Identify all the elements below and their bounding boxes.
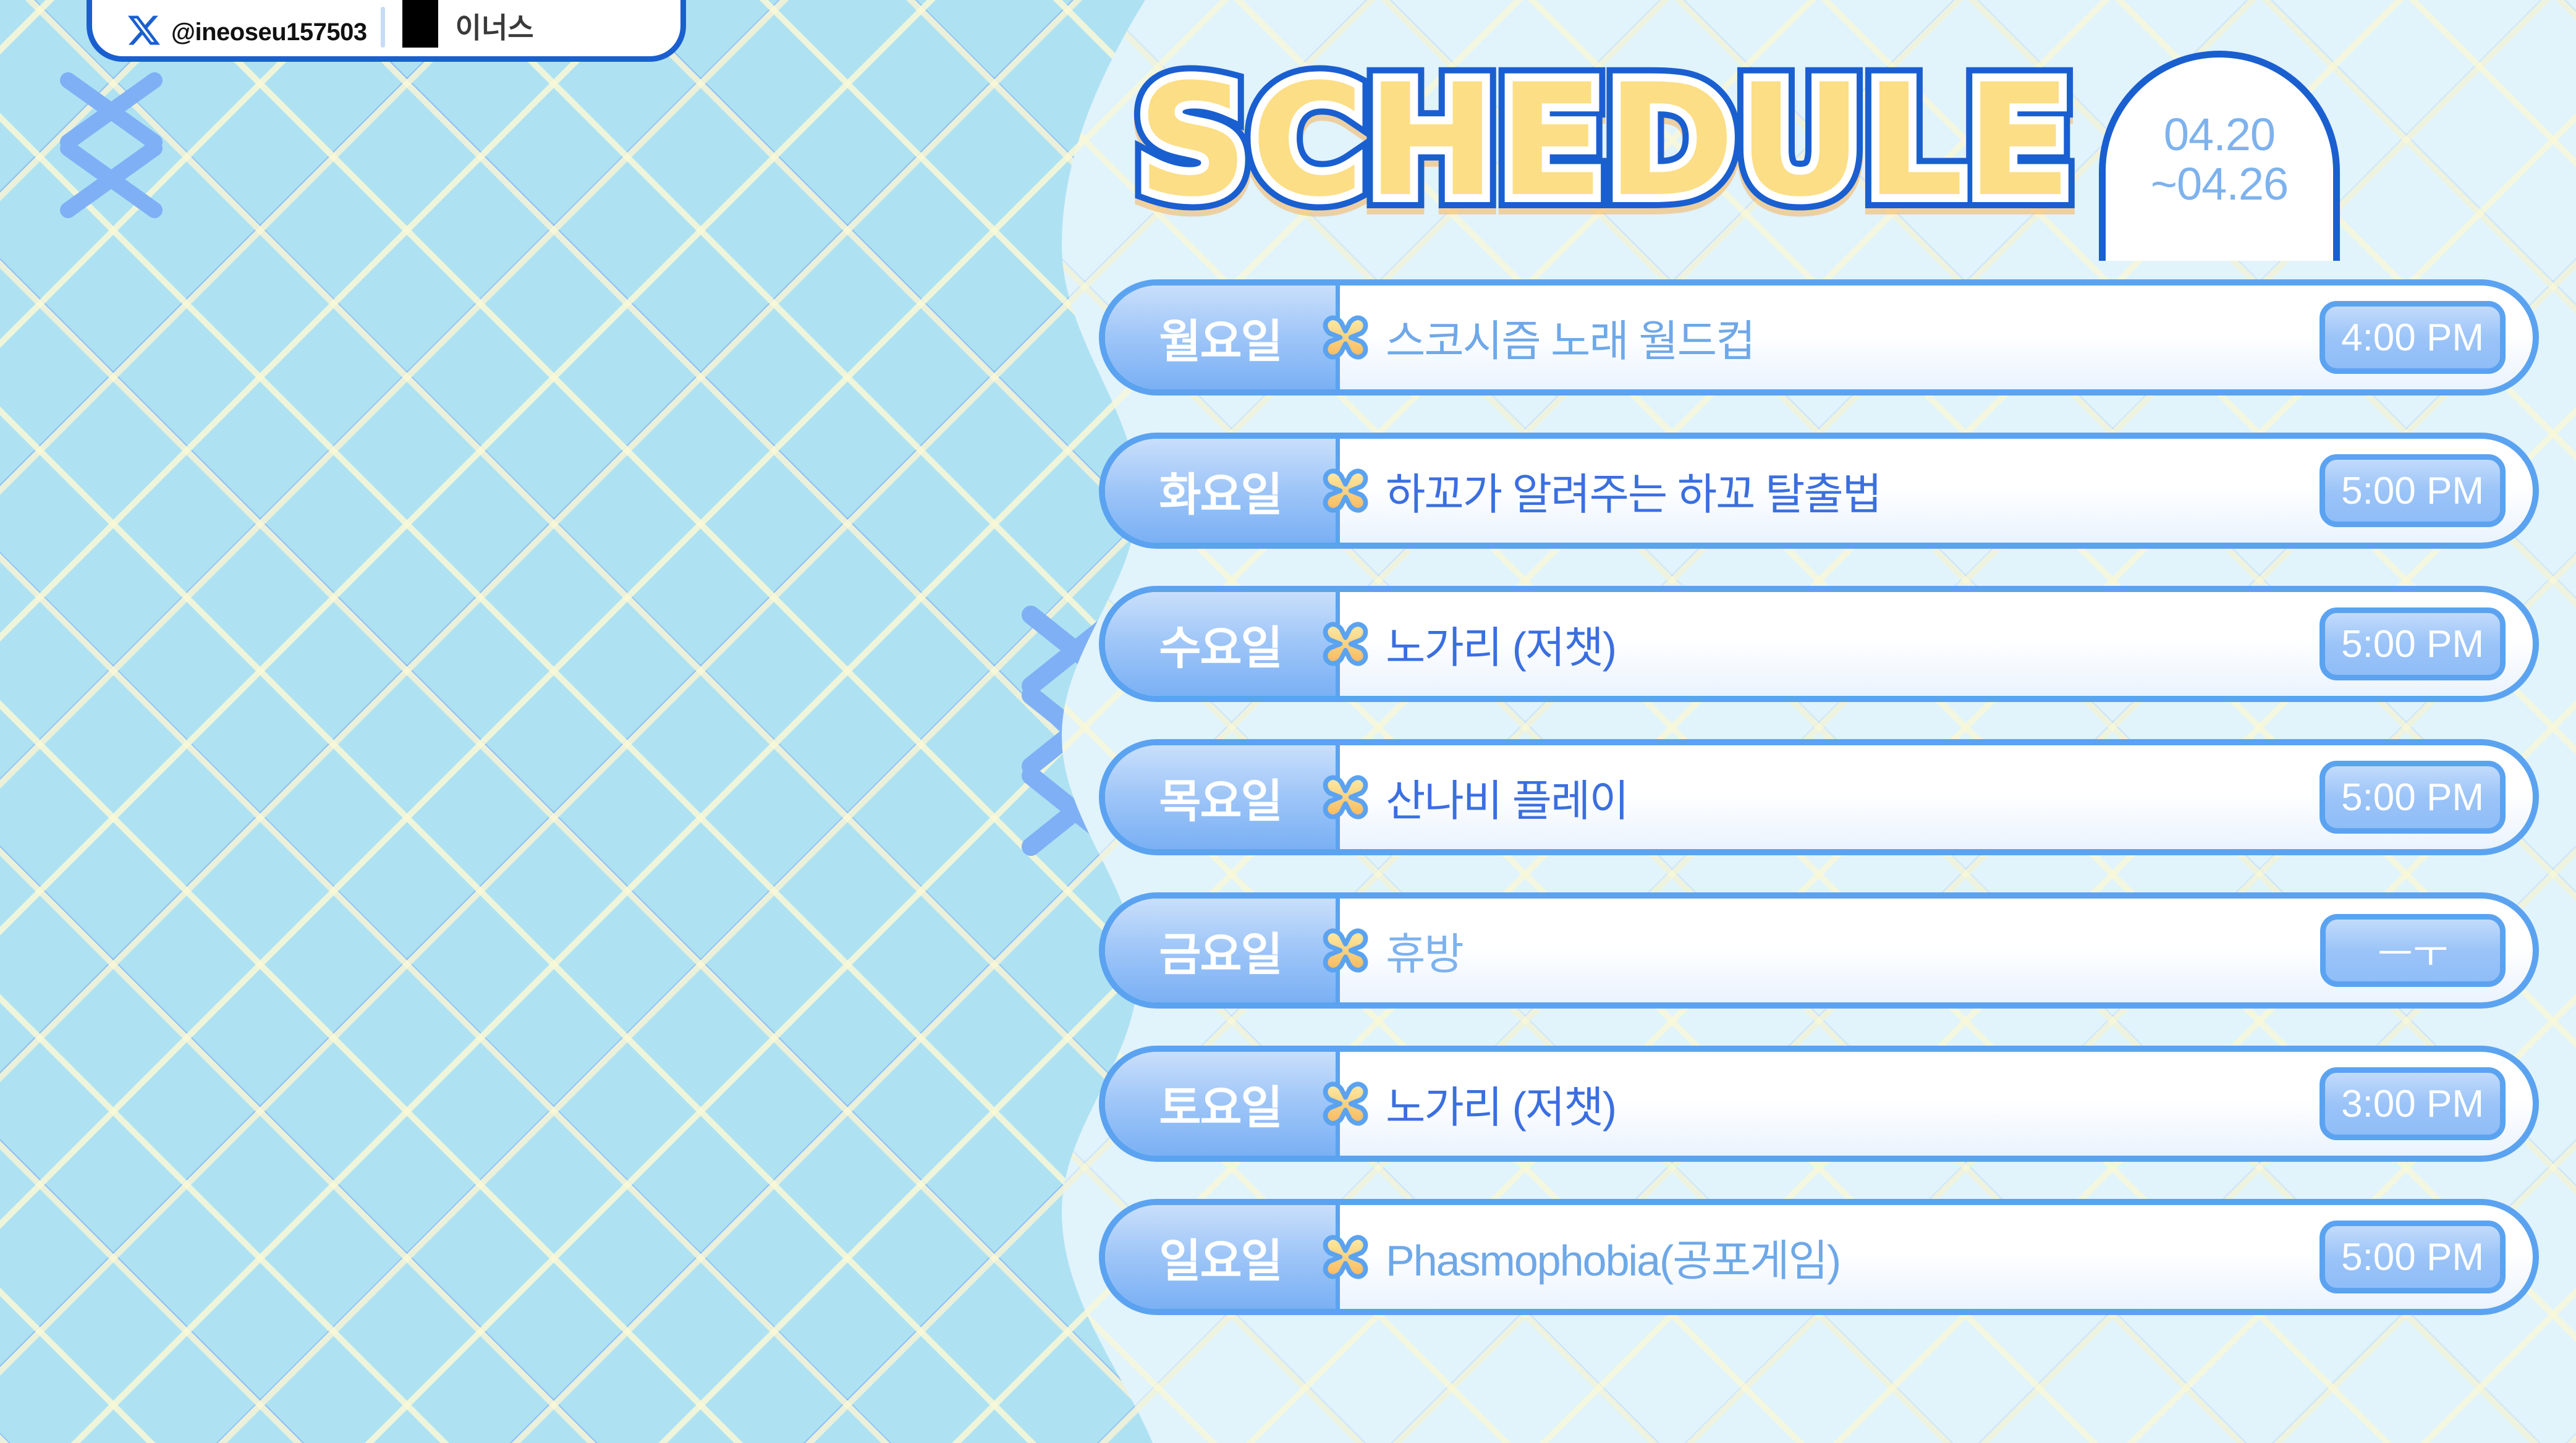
row-body: Phasmophobia(공포게임)5:00 PM bbox=[1340, 1205, 2533, 1309]
time-badge: 5:00 PM bbox=[2320, 1221, 2506, 1293]
x-logo-icon bbox=[128, 14, 160, 46]
banner-divider bbox=[381, 7, 385, 48]
date-range-start: 04.20 bbox=[2164, 111, 2275, 158]
day-label-text: 화요일 bbox=[1159, 458, 1281, 524]
day-label: 수요일 bbox=[1105, 592, 1340, 696]
time-badge: 5:00 PM bbox=[2320, 607, 2506, 680]
day-label: 목요일 bbox=[1105, 745, 1340, 849]
row-body: 휴방ㅡㅜ bbox=[1340, 899, 2533, 1002]
day-label: 화요일 bbox=[1105, 439, 1340, 543]
day-label-text: 목요일 bbox=[1159, 764, 1281, 831]
row-title: Phasmophobia(공포게임) bbox=[1386, 1226, 1840, 1289]
handle-text: @ineoseu157503 bbox=[171, 19, 367, 46]
day-label-text: 토요일 bbox=[1159, 1071, 1281, 1137]
bowtie-x-icon bbox=[1319, 311, 1372, 364]
row-pill[interactable]: 화요일하꼬가 알려주는 하꼬 탈출법5:00 PM bbox=[1099, 433, 2539, 549]
day-label-text: 금요일 bbox=[1159, 918, 1281, 984]
time-text: 5:00 PM bbox=[2341, 469, 2484, 513]
row-title: 휴방 bbox=[1386, 920, 1463, 982]
bowtie-x-icon bbox=[1319, 464, 1372, 517]
schedule-row[interactable]: 수요일노가리 (저챗)5:00 PM bbox=[1099, 586, 2539, 702]
row-title: 노가리 (저챗) bbox=[1386, 1073, 1616, 1135]
row-pill[interactable]: 일요일Phasmophobia(공포게임)5:00 PM bbox=[1099, 1199, 2539, 1315]
nickname-text: 이너스 bbox=[455, 6, 534, 46]
schedule-row[interactable]: 목요일산나비 플레이5:00 PM bbox=[1099, 739, 2539, 855]
censored-block bbox=[402, 0, 438, 48]
row-body: 노가리 (저챗)5:00 PM bbox=[1340, 592, 2533, 696]
decorative-x-icon-top-left bbox=[49, 68, 173, 222]
time-badge: 5:00 PM bbox=[2320, 761, 2506, 834]
row-body: 하꼬가 알려주는 하꼬 탈출법5:00 PM bbox=[1340, 439, 2533, 543]
row-pill[interactable]: 토요일노가리 (저챗)3:00 PM bbox=[1099, 1046, 2539, 1162]
schedule-row[interactable]: 화요일하꼬가 알려주는 하꼬 탈출법5:00 PM bbox=[1099, 433, 2539, 549]
time-badge: ㅡㅜ bbox=[2320, 914, 2506, 987]
date-range-badge: 04.20 ~04.26 bbox=[2099, 51, 2340, 261]
bowtie-x-icon bbox=[1319, 1230, 1372, 1284]
row-body: 산나비 플레이5:00 PM bbox=[1340, 745, 2533, 849]
bowtie-x-icon bbox=[1319, 771, 1372, 824]
row-title: 산나비 플레이 bbox=[1386, 766, 1628, 829]
bowtie-x-icon bbox=[1319, 924, 1372, 977]
row-title: 노가리 (저챗) bbox=[1386, 613, 1616, 675]
day-label-text: 수요일 bbox=[1159, 611, 1281, 677]
day-label: 월요일 bbox=[1105, 286, 1340, 389]
time-text: 4:00 PM bbox=[2341, 316, 2484, 360]
schedule-panel: SCHEDULE SCHEDULE SCHEDULE 04.20 ~04.26 … bbox=[1062, 0, 2576, 1443]
row-pill[interactable]: 수요일노가리 (저챗)5:00 PM bbox=[1099, 586, 2539, 702]
row-body: 노가리 (저챗)3:00 PM bbox=[1340, 1052, 2533, 1156]
row-pill[interactable]: 월요일스코시즘 노래 월드컵4:00 PM bbox=[1099, 279, 2539, 396]
time-badge: 4:00 PM bbox=[2320, 301, 2506, 374]
row-pill[interactable]: 목요일산나비 플레이5:00 PM bbox=[1099, 739, 2539, 855]
schedule-row[interactable]: 토요일노가리 (저챗)3:00 PM bbox=[1099, 1046, 2539, 1162]
bowtie-x-icon bbox=[1319, 617, 1372, 671]
time-text: 5:00 PM bbox=[2341, 776, 2484, 819]
time-text: 5:00 PM bbox=[2341, 1235, 2484, 1279]
schedule-row[interactable]: 일요일Phasmophobia(공포게임)5:00 PM bbox=[1099, 1199, 2539, 1315]
time-badge: 3:00 PM bbox=[2320, 1067, 2506, 1140]
bowtie-x-icon bbox=[1319, 1077, 1372, 1130]
day-label-text: 일요일 bbox=[1159, 1224, 1281, 1290]
time-text: 5:00 PM bbox=[2341, 622, 2484, 666]
row-body: 스코시즘 노래 월드컵4:00 PM bbox=[1340, 286, 2533, 389]
schedule-row[interactable]: 금요일휴방ㅡㅜ bbox=[1099, 892, 2539, 1009]
schedule-rows: 월요일스코시즘 노래 월드컵4:00 PM화요일하꼬가 알려주는 하꼬 탈출법5… bbox=[1099, 279, 2539, 1352]
row-title: 하꼬가 알려주는 하꼬 탈출법 bbox=[1386, 460, 1881, 522]
page-title-fill: SCHEDULE bbox=[1099, 48, 2112, 240]
schedule-row[interactable]: 월요일스코시즘 노래 월드컵4:00 PM bbox=[1099, 279, 2539, 396]
row-title: 스코시즘 노래 월드컵 bbox=[1386, 307, 1755, 369]
date-range-end: ~04.26 bbox=[2151, 161, 2288, 207]
day-label-text: 월요일 bbox=[1159, 305, 1281, 371]
time-text: 3:00 PM bbox=[2341, 1082, 2484, 1126]
page-title: SCHEDULE SCHEDULE SCHEDULE bbox=[1099, 48, 2112, 240]
time-text: ㅡㅜ bbox=[2378, 923, 2448, 978]
day-label: 일요일 bbox=[1105, 1205, 1340, 1309]
day-label: 토요일 bbox=[1105, 1052, 1340, 1156]
row-pill[interactable]: 금요일휴방ㅡㅜ bbox=[1099, 892, 2539, 1009]
day-label: 금요일 bbox=[1105, 899, 1340, 1002]
time-badge: 5:00 PM bbox=[2320, 454, 2506, 527]
handle-banner: @ineoseu157503 이너스 bbox=[87, 0, 686, 62]
